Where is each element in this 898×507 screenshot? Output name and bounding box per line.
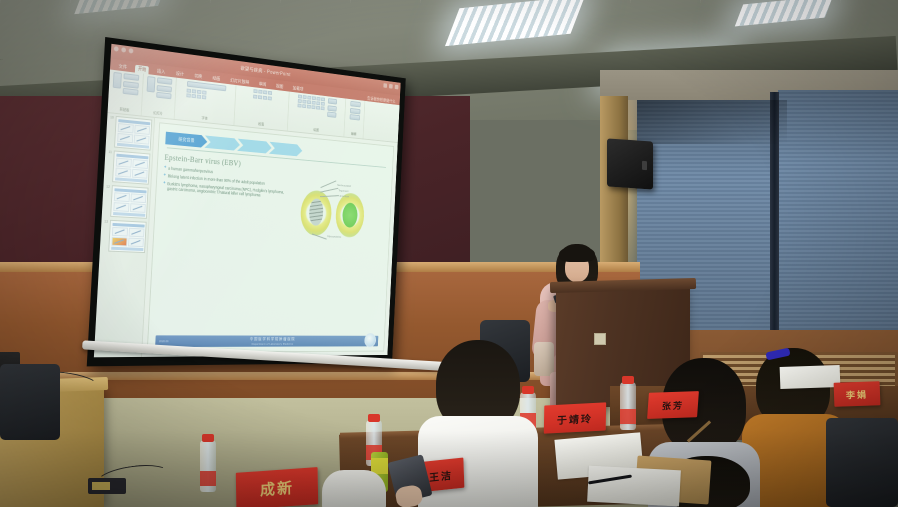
quick-access-toolbar[interactable]: [114, 46, 134, 53]
thumbnail-number: 10: [109, 115, 114, 120]
podium-plate: [594, 333, 606, 345]
ribbon-group-paragraph[interactable]: 段落: [234, 85, 289, 131]
group-label-clipboard: 剪贴板: [119, 107, 129, 113]
nameplate-text: 李娟: [846, 387, 868, 401]
projection-screen: 欲望与疾病 - PowerPoint 文件 开始 插入 设计 切换 动画 幻灯片…: [87, 37, 406, 366]
section-button[interactable]: [156, 92, 171, 100]
leader-label-2: Tegument: [338, 188, 348, 192]
nameplate-1: 成新: [236, 467, 318, 507]
thumbnail-number: 11: [107, 150, 112, 155]
cut-button[interactable]: [123, 73, 139, 81]
maximize-icon[interactable]: [389, 84, 393, 89]
ribbon-group-font[interactable]: 字体: [175, 78, 237, 125]
ribbon-group-clipboard[interactable]: 剪贴板: [108, 69, 144, 115]
group-label-editing: 编辑: [351, 132, 357, 137]
nameplate-text: 成新: [260, 477, 294, 500]
new-slide-button[interactable]: [147, 76, 156, 92]
replace-button[interactable]: [350, 107, 361, 113]
shape-fill-button[interactable]: [328, 98, 337, 104]
copy-button[interactable]: [123, 81, 139, 89]
nameplate-5: 李娟: [834, 381, 881, 407]
chevron-step-3: [237, 139, 272, 154]
thumbnail-item[interactable]: 10: [108, 115, 153, 150]
thumbnail-preview[interactable]: [114, 116, 152, 151]
water-bottle-1: [200, 440, 216, 492]
projected-desktop: 欲望与疾病 - PowerPoint 文件 开始 插入 设计 切换 动画 幻灯片…: [94, 44, 401, 357]
close-icon[interactable]: [395, 85, 399, 90]
leader-label-1: Nucleocapsid: [337, 183, 351, 188]
slide-bullet-list: + a human gammaherpesvirus + lifelong la…: [154, 165, 294, 346]
thumbnail-number: 13: [103, 219, 108, 224]
chevron-step-4: [269, 142, 303, 157]
thumbnail-item[interactable]: 12: [104, 185, 149, 219]
chevron-step-1: 研究背景: [165, 132, 207, 148]
thumbnail-item[interactable]: 13: [102, 219, 147, 253]
presenter-bag: [534, 342, 554, 376]
ribbon-group-drawing[interactable]: 绘图: [288, 92, 347, 137]
leader-line-2: [320, 187, 338, 191]
audience-left-white-coat: [322, 470, 386, 507]
reset-button[interactable]: [157, 85, 172, 93]
window-title: 欲望与疾病 - PowerPoint: [240, 65, 290, 78]
window-blind-right: [778, 90, 898, 340]
group-label-paragraph: 段落: [258, 122, 264, 127]
format-painter-button[interactable]: [123, 88, 139, 96]
group-label-slides: 幻灯片: [153, 111, 163, 117]
institution-logo: [364, 333, 376, 347]
slide-footer-date: 2020.06: [159, 339, 169, 343]
thumbnail-preview[interactable]: [110, 185, 148, 219]
leader-line-3: [320, 195, 339, 196]
leader-line-1: [320, 180, 336, 187]
minimize-icon[interactable]: [383, 83, 387, 88]
find-button[interactable]: [350, 101, 361, 108]
nameplate-text: 张芳: [662, 398, 685, 412]
window-controls[interactable]: [383, 83, 398, 89]
align-buttons[interactable]: [253, 95, 272, 101]
group-label-font: 字体: [201, 116, 207, 121]
plus-bullet-icon: +: [163, 181, 166, 192]
chevron-step-2: [204, 135, 240, 151]
paper-sheet-3: [780, 365, 841, 389]
slide-canvas-area[interactable]: 研究背景: [142, 118, 398, 357]
slide-columns: + a human gammaherpesvirus + lifelong la…: [154, 165, 386, 346]
shape-gallery[interactable]: [298, 94, 326, 110]
nameplate-3: 张芳: [647, 391, 699, 419]
plus-bullet-icon: +: [163, 173, 166, 179]
leader-label-3: Envelope: [340, 194, 350, 198]
blind-divider: [770, 92, 779, 360]
ribbon-group-slides[interactable]: 幻灯片: [142, 74, 177, 119]
shape-effects-button[interactable]: [327, 112, 336, 118]
select-button[interactable]: [349, 114, 360, 120]
group-label-drawing: 绘图: [313, 128, 319, 133]
thumbnail-item[interactable]: 11: [106, 150, 151, 185]
chevron-label-1: 研究背景: [178, 136, 195, 143]
nameplate-text: 于靖玲: [557, 410, 593, 427]
thumbnail-number: 12: [105, 185, 110, 190]
nucleocapsid: [308, 198, 323, 226]
virion-whole: [335, 192, 365, 238]
cable-junction-box: [88, 478, 126, 494]
redo-icon[interactable]: [129, 48, 134, 54]
paper-sheet-2: [587, 466, 681, 507]
audience-torso: [322, 470, 386, 507]
leader-label-bottom: Glycoproteins: [327, 234, 341, 238]
shape-outline-button[interactable]: [327, 105, 336, 111]
current-slide[interactable]: 研究背景: [147, 122, 394, 353]
paste-button[interactable]: [113, 72, 122, 89]
undo-icon[interactable]: [121, 47, 126, 53]
chair-right: [826, 418, 898, 507]
thumbnail-preview[interactable]: [108, 220, 146, 253]
font-style-buttons[interactable]: [186, 89, 206, 100]
nameplate-text: 王洁: [429, 466, 453, 484]
plus-bullet-icon: +: [164, 165, 167, 171]
thumbnail-preview[interactable]: [112, 150, 150, 184]
slide-footer-band: 2020.06 中国医学科学院肿瘤医院 Department of Labora…: [155, 335, 378, 347]
lecture-room-photo: 欲望与疾病 - PowerPoint 文件 开始 插入 设计 切换 动画 幻灯片…: [0, 0, 898, 507]
editor-body: 10 11: [94, 113, 398, 357]
nameplate-2: 于靖玲: [544, 402, 606, 433]
ebv-virion-diagram: Nucleocapsid Tegument Envelope Glycoprot…: [289, 176, 386, 346]
wall-speaker: [607, 138, 653, 189]
ribbon-group-editing[interactable]: 编辑: [344, 99, 365, 139]
layout-button[interactable]: [157, 77, 172, 85]
save-icon[interactable]: [114, 46, 119, 52]
presenter-fringe: [559, 246, 595, 262]
chair-left: [0, 364, 60, 440]
water-bottle-4: [620, 382, 636, 430]
viral-core: [342, 202, 358, 228]
slide-footer-org-en: Department of Laboratory Medicine: [252, 342, 294, 346]
